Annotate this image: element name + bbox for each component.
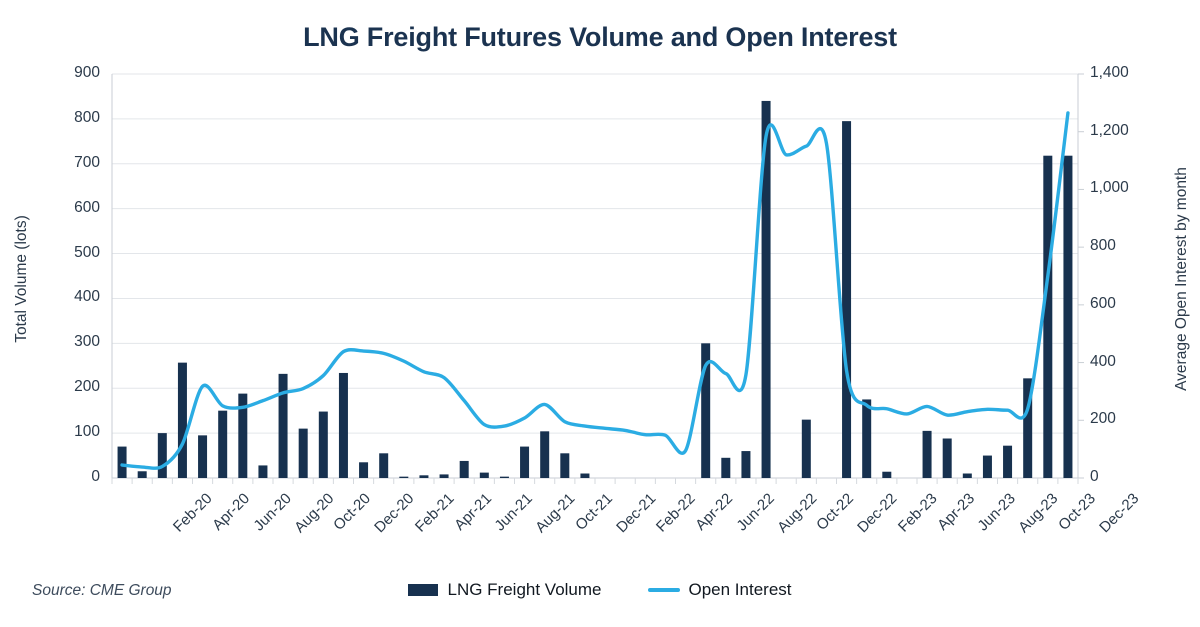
line-series [122,113,1068,468]
bar [299,429,308,478]
bar [178,363,187,478]
legend-item-label: Open Interest [689,580,792,600]
bar [540,431,549,478]
bar [520,447,529,478]
bar [319,412,328,478]
bar [943,439,952,479]
bar [1063,156,1072,478]
legend-bar-swatch-icon [408,584,438,596]
bar [862,399,871,478]
bar [923,431,932,478]
bar [158,433,167,478]
bar [460,461,469,478]
bar [580,474,589,478]
bar [218,411,227,478]
bar [198,435,207,478]
bar [1003,446,1012,478]
gridlines [112,74,1078,478]
legend-item[interactable]: LNG Freight Volume [408,580,601,600]
bar [882,472,891,478]
chart-legend: LNG Freight VolumeOpen Interest [0,580,1200,600]
bar [842,121,851,478]
x-tick-marks [112,478,1078,484]
bar [721,458,730,478]
bar [440,474,449,478]
bar [339,373,348,478]
legend-item[interactable]: Open Interest [648,580,792,600]
chart-container: LNG Freight Futures Volume and Open Inte… [0,0,1200,627]
bar [419,475,428,478]
open-interest-line [122,113,1068,468]
bar [258,465,267,478]
bar [963,474,972,478]
bar [359,462,368,478]
legend-line-swatch-icon [648,588,680,592]
bar [1043,156,1052,478]
bar [983,456,992,478]
bar-series [118,101,1073,478]
bar [118,447,127,478]
bar [500,477,509,478]
bar [741,451,750,478]
plot-area [0,0,1200,627]
axis-lines [112,74,1084,478]
bar [279,374,288,478]
bar [138,471,147,478]
bar [802,420,811,478]
legend-item-label: LNG Freight Volume [447,580,601,600]
bar [379,453,388,478]
bar [560,453,569,478]
bar [399,477,408,478]
bar [480,473,489,478]
